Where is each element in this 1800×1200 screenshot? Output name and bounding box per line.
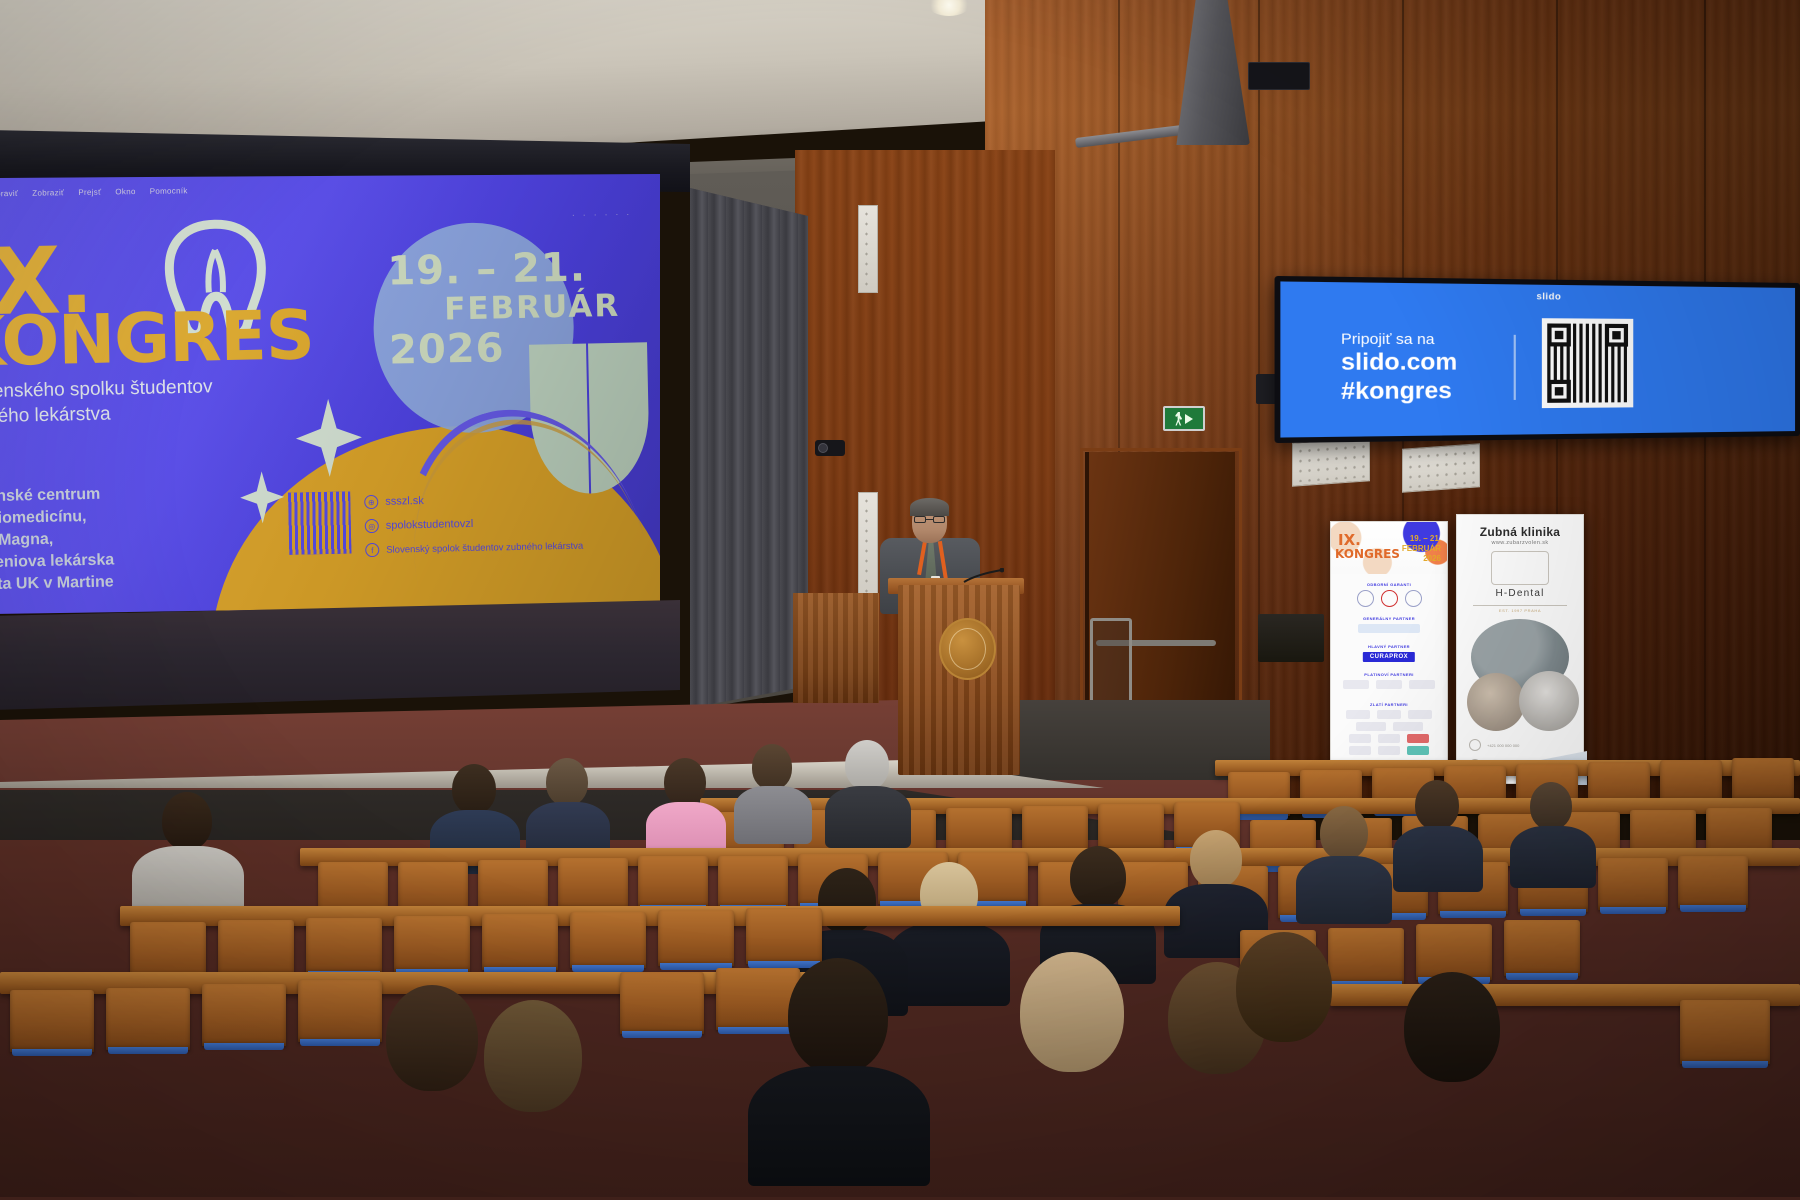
projection-screen-masking-bottom — [0, 600, 680, 710]
sponsor-banner-kongres: IX. KONGRES 19. – 21.FEBRUÁR2026 ODBORNÍ… — [1330, 521, 1448, 771]
menu-item-upravit[interactable]: Upraviť — [0, 188, 18, 197]
seat[interactable] — [558, 858, 628, 910]
partner-logo — [1378, 746, 1400, 755]
seat[interactable] — [394, 916, 470, 972]
slide-social-handle: spolokstudentovzl — [386, 518, 474, 532]
university-seal — [939, 618, 996, 680]
slido-text-block: Pripojiť sa na slido.com #kongres — [1341, 330, 1457, 406]
partner-logo — [1381, 590, 1398, 607]
partner-logo — [1349, 746, 1371, 755]
glasses-lens-left — [914, 516, 926, 523]
banner-gold-logos-1 — [1331, 710, 1447, 719]
partner-logo — [1409, 680, 1435, 689]
person-head — [386, 985, 478, 1091]
dental-photo-equipment — [1467, 673, 1525, 731]
partner-logo — [1346, 710, 1370, 719]
seat[interactable] — [746, 908, 822, 964]
slide-venue-block: Martinské centrum pre biomedicínu, Aula … — [0, 482, 190, 597]
banner-gold-logos-2 — [1331, 722, 1447, 731]
seat[interactable] — [478, 860, 548, 912]
seat[interactable] — [1680, 1000, 1770, 1064]
slide-venue-line: fakulta UK v Martine — [0, 570, 190, 597]
seat[interactable] — [1598, 858, 1668, 910]
acoustic-panel — [1292, 437, 1370, 486]
slide-social-instagram: ◎ spolokstudentovzl — [365, 517, 474, 533]
acoustic-panel — [1402, 443, 1480, 492]
dental-photo-clinic — [1519, 671, 1579, 731]
person-shoulders — [825, 786, 911, 848]
dental-banner-url: www.zubarzvolen.sk — [1457, 540, 1583, 546]
banner-section-zlati: ZLATÍ PARTNERI — [1331, 702, 1447, 707]
person-head — [1530, 782, 1572, 830]
smiling-face-icon — [1491, 551, 1549, 585]
slido-logo: slido — [1536, 291, 1561, 302]
partner-logo — [1358, 624, 1420, 633]
slide-subtitle-line2: zubného lekárstva — [0, 398, 287, 430]
slide-qr-code — [288, 491, 351, 554]
dental-face-logo — [1491, 551, 1549, 585]
seat[interactable] — [1678, 856, 1748, 908]
secondary-podium — [793, 593, 879, 703]
seat[interactable] — [106, 988, 190, 1050]
banner-date: 19. – 21.FEBRUÁR2026 — [1402, 534, 1441, 564]
seat[interactable] — [620, 972, 704, 1034]
person-head — [1404, 972, 1500, 1082]
slido-url: slido.com — [1341, 347, 1457, 376]
equipment-crate — [1258, 614, 1324, 662]
seat[interactable] — [1098, 804, 1164, 852]
slide-social-handle: Slovenský spolok študentov zubného lekár… — [386, 540, 583, 555]
slido-join-label: Pripojiť sa na — [1341, 330, 1457, 348]
person-head — [1020, 952, 1124, 1072]
glasses-icon — [914, 516, 945, 523]
acoustic-panel — [858, 205, 878, 293]
person-head — [484, 1000, 582, 1112]
banner-title: KONGRES — [1335, 547, 1400, 561]
slido-divider — [1514, 335, 1516, 400]
seat[interactable] — [1328, 928, 1404, 984]
banner-section-hlavny: HLAVNÝ PARTNER — [1331, 644, 1447, 649]
seat[interactable] — [306, 918, 382, 974]
person-head — [1236, 932, 1332, 1042]
facebook-icon: f — [365, 543, 379, 557]
dental-brand: H-Dental — [1457, 588, 1583, 599]
partner-logo — [1407, 734, 1429, 743]
glasses-bridge — [926, 519, 933, 520]
person-head — [1415, 780, 1459, 830]
lectern-podium — [898, 585, 1020, 775]
qr-pattern — [1547, 323, 1628, 402]
slide-date-range: 19. – 21. — [387, 245, 658, 293]
menu-item-prejst[interactable]: Prejsť — [78, 187, 101, 196]
qr-finder-tr — [1605, 324, 1628, 347]
person-shoulders — [748, 1066, 930, 1186]
person-head — [546, 758, 588, 806]
person-head — [1320, 806, 1368, 860]
slide-dates: 19. – 21. FEBRUÁR 2026 — [387, 245, 659, 373]
slido-qr-code — [1542, 318, 1633, 408]
seat[interactable] — [130, 922, 206, 978]
partner-logo — [1349, 734, 1371, 743]
dental-tagline: EST. 1997 PRAHA — [1457, 608, 1583, 613]
partner-logo — [1405, 590, 1422, 607]
running-person-icon — [1175, 412, 1183, 426]
person-head — [162, 792, 212, 850]
panel-perforation — [862, 209, 874, 289]
partner-logo — [1407, 746, 1429, 755]
seat[interactable] — [482, 914, 558, 970]
seat[interactable] — [298, 980, 382, 1042]
seat[interactable] — [638, 856, 708, 908]
dental-banner-title: Zubná klinika — [1457, 525, 1583, 539]
phone-icon — [1469, 739, 1481, 751]
speaker-hair — [910, 498, 949, 516]
slide-date-month: FEBRUÁR — [444, 287, 659, 327]
banner-gold-logos-4 — [1331, 746, 1447, 755]
slide-date-year: 2026 — [389, 323, 660, 373]
partner-logo — [1376, 680, 1402, 689]
banner-section-general: GENERÁLNY PARTNER — [1331, 616, 1447, 621]
partner-logo — [1343, 680, 1369, 689]
banner-garanti-logos — [1331, 590, 1447, 607]
slido-event-code: #kongres — [1341, 376, 1457, 405]
person-head — [752, 744, 792, 790]
partner-logo — [1357, 590, 1374, 607]
acoustic-panel — [858, 492, 878, 602]
person-head — [664, 758, 706, 806]
banner-platinum-logos — [1331, 680, 1447, 689]
stage-curtain — [690, 188, 808, 708]
menu-item-zobrazit[interactable]: Zobraziť — [32, 188, 64, 198]
person-shoulders — [1393, 826, 1483, 892]
banner-section-platinovi: PLATINOVÍ PARTNERI — [1331, 672, 1447, 677]
person-shoulders — [1510, 826, 1596, 888]
projection-screen: IX. KONGRES Slovenského spolku študentov… — [0, 174, 660, 614]
seat[interactable] — [570, 912, 646, 968]
panel-perforation — [1406, 448, 1476, 489]
person-head — [845, 740, 889, 790]
slide-kongres-title: KONGRES — [0, 296, 315, 383]
person-head — [1070, 846, 1126, 908]
seat[interactable] — [1022, 806, 1088, 854]
presentation-slide: IX. KONGRES Slovenského spolku študentov… — [0, 174, 660, 614]
presentation-toolbar-icons[interactable]: · · · · · · — [572, 209, 632, 219]
partner-logo — [1377, 710, 1401, 719]
seat[interactable] — [1732, 758, 1794, 802]
trolley — [1090, 618, 1132, 704]
qr-finder-bl — [1547, 380, 1571, 403]
auditorium-scene: IX. KONGRES Slovenského spolku študentov… — [0, 0, 1800, 1197]
microphone-icon — [962, 568, 1004, 584]
seat[interactable] — [10, 990, 94, 1052]
partner-logo — [1393, 722, 1423, 731]
sponsor-banner-dental: Zubná klinika www.zubarzvolen.sk H-Denta… — [1456, 514, 1584, 784]
person-head — [788, 958, 888, 1074]
speaker-amp-box — [1248, 62, 1310, 90]
person-shoulders — [734, 786, 812, 844]
seat[interactable] — [202, 984, 286, 1046]
slido-display: slido Pripojiť sa na slido.com #kongres — [1275, 276, 1800, 443]
person-shoulders — [1296, 856, 1392, 924]
banner-gold-logos-3 — [1331, 734, 1447, 743]
qr-finder-tl — [1547, 323, 1571, 346]
seat[interactable] — [718, 856, 788, 908]
slide-social-handle: ssszl.sk — [385, 495, 424, 508]
person-head — [1190, 830, 1242, 888]
instagram-icon: ◎ — [365, 519, 379, 533]
menu-item-okno[interactable]: Okno — [115, 187, 135, 196]
person-head — [452, 764, 496, 814]
banner-section-garanti: ODBORNÍ GARANTI — [1331, 582, 1447, 587]
banner-main-partner: CURAPROX — [1363, 652, 1415, 662]
panel-perforation — [862, 496, 874, 598]
seat[interactable] — [1504, 920, 1580, 976]
exit-arrow-icon — [1185, 414, 1193, 424]
partner-logo — [1408, 710, 1432, 719]
menu-item-pomocnik[interactable]: Pomocník — [150, 186, 188, 196]
seat[interactable] — [658, 910, 734, 966]
panel-perforation — [1296, 442, 1366, 483]
slide-social-website: ⊕ ssszl.sk — [364, 494, 424, 509]
globe-icon: ⊕ — [364, 495, 378, 509]
slide-subtitle: Slovenského spolku študentov zubného lek… — [0, 373, 287, 430]
partner-logo — [1378, 734, 1400, 743]
dental-divider — [1473, 605, 1567, 606]
banner-general-logo — [1331, 624, 1447, 633]
camera-lens-icon — [818, 443, 828, 453]
seat[interactable] — [218, 920, 294, 976]
partner-logo — [1356, 722, 1386, 731]
exit-sign — [1163, 406, 1205, 431]
dental-phone: +421 000 000 000 — [1487, 743, 1519, 748]
slido-screen: slido Pripojiť sa na slido.com #kongres — [1280, 281, 1795, 437]
glasses-lens-right — [933, 516, 945, 523]
